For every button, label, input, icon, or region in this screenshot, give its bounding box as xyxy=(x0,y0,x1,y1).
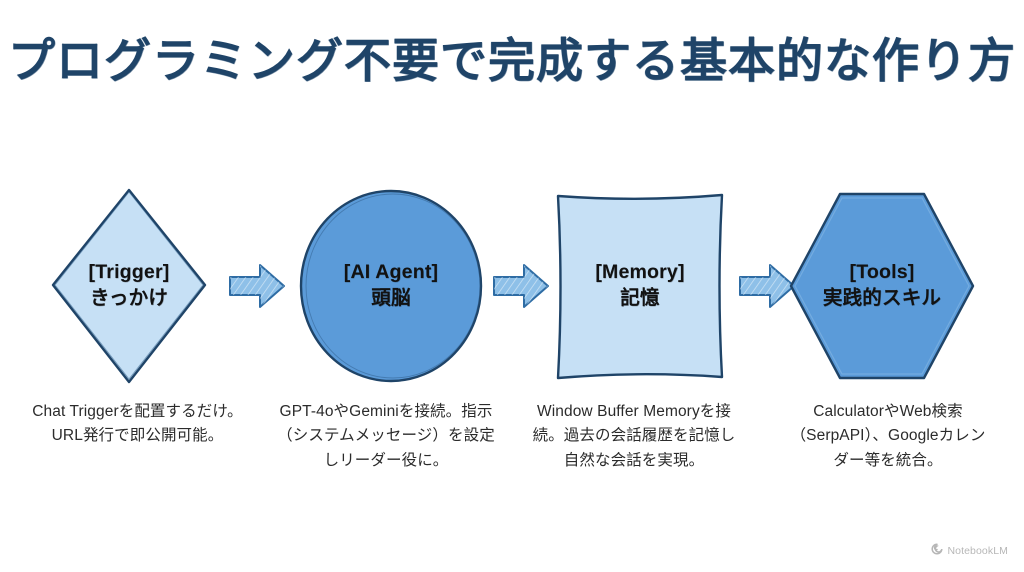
caption-ai-agent: GPT-4oやGeminiを接続。指示（システムメッセージ）を設定しリーダー役に… xyxy=(277,400,495,473)
notebooklm-watermark-label: NotebookLM xyxy=(947,545,1008,557)
flow-node-memory[interactable]: [Memory] 記憶 xyxy=(552,186,728,386)
connector-arrow-2 xyxy=(492,260,550,312)
slide-canvas: プログラミング不要で完成する基本的な作り方 [Trigger] きっかけ xyxy=(0,0,1024,572)
flow-node-ai-agent[interactable]: [AI Agent] 頭脳 xyxy=(296,186,486,386)
right-arrow-icon xyxy=(492,260,550,312)
circle-shape-icon xyxy=(296,186,486,386)
connector-arrow-1 xyxy=(228,260,286,312)
hexagon-shape-icon xyxy=(786,186,978,386)
flow-diagram: [Trigger] きっかけ [AI Ag xyxy=(0,186,1024,386)
caption-memory: Window Buffer Memoryを接続。過去の会話履歴を記憶し自然な会話… xyxy=(525,400,743,473)
caption-tools: CalculatorやWeb検索（SerpAPI）、Googleカレンダー等を統… xyxy=(784,400,992,473)
flow-node-tools[interactable]: [Tools] 実践的スキル xyxy=(786,186,978,386)
right-arrow-icon xyxy=(228,260,286,312)
flow-node-trigger[interactable]: [Trigger] きっかけ xyxy=(48,186,210,386)
diamond-shape-icon xyxy=(48,186,210,386)
notebooklm-watermark: NotebookLM xyxy=(931,542,1008,560)
notebooklm-logo-icon xyxy=(931,542,943,560)
node-captions: Chat Triggerを配置するだけ。URL発行で即公開可能。 GPT-4oや… xyxy=(0,400,1024,500)
caption-trigger: Chat Triggerを配置するだけ。URL発行で即公開可能。 xyxy=(30,400,245,449)
square-shape-icon xyxy=(552,186,728,386)
page-title: プログラミング不要で完成する基本的な作り方 xyxy=(0,22,1024,91)
